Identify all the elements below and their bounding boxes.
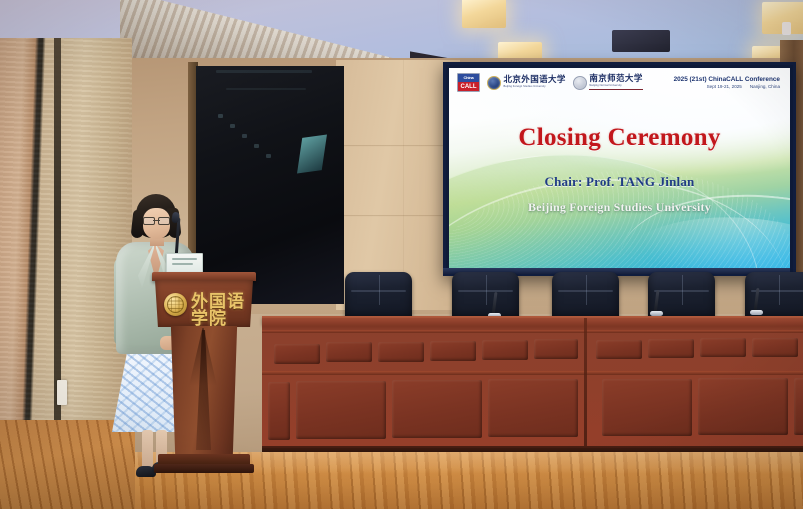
bfsu-logo-icon: 北京外国语大学 Beijing Foreign Studies Universi…	[487, 76, 566, 90]
table-panel-small	[482, 340, 528, 360]
ceiling-sensor-icon	[782, 22, 791, 35]
table-section-seam	[584, 318, 587, 452]
table-panel-large	[392, 380, 482, 438]
table-panel-large	[698, 378, 788, 435]
conference-chair	[345, 272, 412, 322]
nnu-name-en: Nanjing Normal University	[589, 85, 642, 88]
table-panel-small	[752, 338, 798, 357]
table-panel-large	[296, 381, 386, 439]
chinacall-logo-bottom-text: CALL	[458, 82, 479, 91]
slide-header: China CALL 北京外国语大学 Beijing Foreign Studi…	[449, 68, 790, 95]
glasses-icon	[143, 217, 170, 223]
table-panel-small	[534, 339, 578, 359]
dark-glass-window	[196, 66, 344, 304]
table-panel-large	[488, 379, 578, 437]
chinacall-logo-top-text: China	[458, 74, 479, 82]
table-panel-small	[648, 339, 694, 358]
conference-chair	[452, 272, 519, 322]
table-panel-large	[602, 379, 692, 436]
globe-emblem-icon	[164, 293, 187, 316]
slide-affiliation: Beijing Foreign Studies University	[449, 200, 790, 215]
conference-room-photo: China CALL 北京外国语大学 Beijing Foreign Studi…	[0, 0, 803, 509]
table-trim-upper	[262, 330, 803, 333]
slide-swoosh-arc	[612, 181, 790, 270]
table-microphone-base	[750, 310, 763, 315]
slide-title: Closing Ceremony	[449, 124, 790, 152]
wall-vertical-strip	[54, 38, 61, 478]
nnu-name-block: 南京师范大学 Nanjing Normal University	[589, 75, 642, 89]
conference-dates: Sept 19-21, 2025	[707, 84, 742, 89]
slide-chair-line: Chair: Prof. TANG Jinlan	[449, 174, 790, 190]
nnu-crest-icon	[573, 76, 587, 90]
light-switch-plate[interactable]	[57, 380, 67, 405]
podium: 外国语学院	[152, 272, 256, 478]
conference-location: Nanjing, China	[750, 84, 780, 89]
table-panel-small	[700, 338, 746, 357]
table-panel-large	[794, 378, 803, 435]
table-panel-small	[596, 340, 642, 359]
table-panel-small	[274, 344, 320, 364]
slide-logo-row: China CALL 北京外国语大学 Beijing Foreign Studi…	[457, 73, 643, 92]
conference-subtitle: Sept 19-21, 2025Nanjing, China	[674, 84, 780, 90]
table-panel-small	[430, 341, 476, 361]
bfsu-name-cn: 北京外国语大学	[504, 76, 566, 85]
ceiling-vent-icon	[612, 30, 670, 52]
conference-chair	[552, 272, 619, 322]
conference-title: 2025 (21st) ChinaCALL Conference	[674, 76, 780, 84]
table-panel-small	[378, 342, 424, 362]
nnu-name-cn: 南京师范大学	[589, 75, 642, 84]
nnu-logo-icon: 南京师范大学 Nanjing Normal University	[573, 75, 643, 89]
table-panel-large	[268, 382, 290, 440]
bfsu-name-en: Beijing Foreign Studies University	[504, 86, 566, 89]
ceiling-lamp-icon	[462, 0, 506, 28]
presentation-slide: China CALL 北京外国语大学 Beijing Foreign Studi…	[449, 68, 790, 270]
bfsu-name-block: 北京外国语大学 Beijing Foreign Studies Universi…	[504, 76, 566, 88]
podium-label: 外国语学院	[191, 294, 253, 328]
table-trim-mid	[262, 371, 803, 375]
nnu-underline	[589, 89, 642, 90]
projection-screen: China CALL 北京外国语大学 Beijing Foreign Studi…	[443, 62, 796, 276]
chinacall-logo-icon: China CALL	[457, 73, 480, 92]
conference-meta: 2025 (21st) ChinaCALL Conference Sept 19…	[674, 76, 782, 90]
podium-base-lower	[154, 464, 254, 473]
bfsu-crest-icon	[487, 76, 501, 90]
podium-top-surface	[152, 272, 256, 281]
slide-swoosh-glow	[626, 210, 790, 270]
podium-front-face: 外国语学院	[155, 280, 253, 327]
table-panel-small	[326, 342, 372, 362]
